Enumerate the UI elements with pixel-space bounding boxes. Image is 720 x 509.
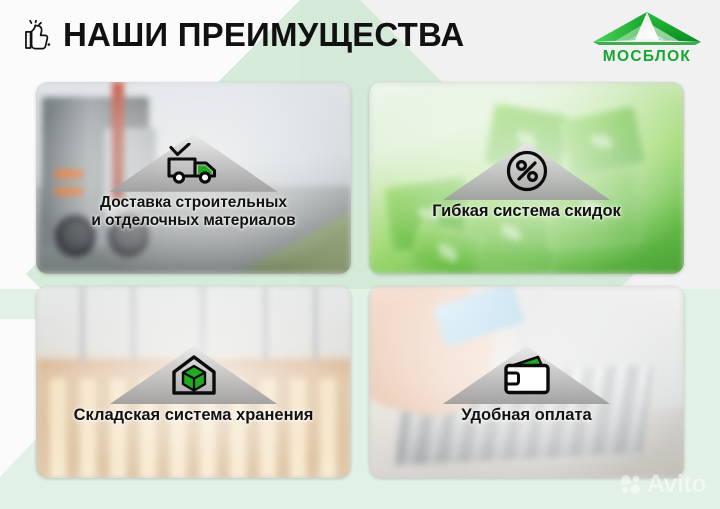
advantages-grid: Доставка строительных и отделочных матер… [36,82,684,478]
title-group: НАШИ ПРЕИМУЩЕСТВА [24,18,464,51]
avito-wordmark: Avito [647,472,706,497]
delivery-truck-check-icon [165,143,223,190]
card-label-payment: Удобная оплата [461,406,591,425]
wallet-icon [502,355,552,402]
banner-header: НАШИ ПРЕИМУЩЕСТВА [0,0,720,76]
advantage-card-payment[interactable]: Удобная оплата [369,286,684,478]
thumbs-up-icon [24,20,52,50]
card-label-line1: Удобная оплата [461,406,591,425]
icon-badge-payment [443,342,611,404]
card-label-line2: и отделочных материалов [91,212,295,230]
avito-watermark: Avito [620,472,706,497]
icon-badge-discounts [443,138,611,200]
advantage-card-delivery[interactable]: Доставка строительных и отделочных матер… [36,82,351,274]
card-label-line1: Складская система хранения [74,406,314,425]
card-label-discounts: Гибкая система скидок [432,202,621,221]
icon-badge-delivery [110,130,278,192]
logo-wordmark: МОСБЛОК [603,49,691,64]
green-triangle-chevron-logo-icon [591,10,703,48]
advantage-card-warehouse[interactable]: Складская система хранения [36,286,351,478]
card-label-line1: Доставка строительных [91,194,295,212]
advantage-card-discounts[interactable]: % % % % % % [369,82,684,274]
card-label-line1: Гибкая система скидок [432,202,621,221]
icon-badge-warehouse [110,342,278,404]
advertisement-banner: НАШИ ПРЕИМУЩЕСТВА [0,0,720,509]
page-title: НАШИ ПРЕИМУЩЕСТВА [63,18,464,51]
company-logo[interactable]: МОСБЛОК [586,10,708,70]
card-label-warehouse: Складская система хранения [74,406,314,425]
percent-circle-icon [505,149,549,198]
avito-dots-icon [620,474,642,496]
card-label-delivery: Доставка строительных и отделочных матер… [91,194,295,231]
warehouse-box-icon [170,353,218,402]
